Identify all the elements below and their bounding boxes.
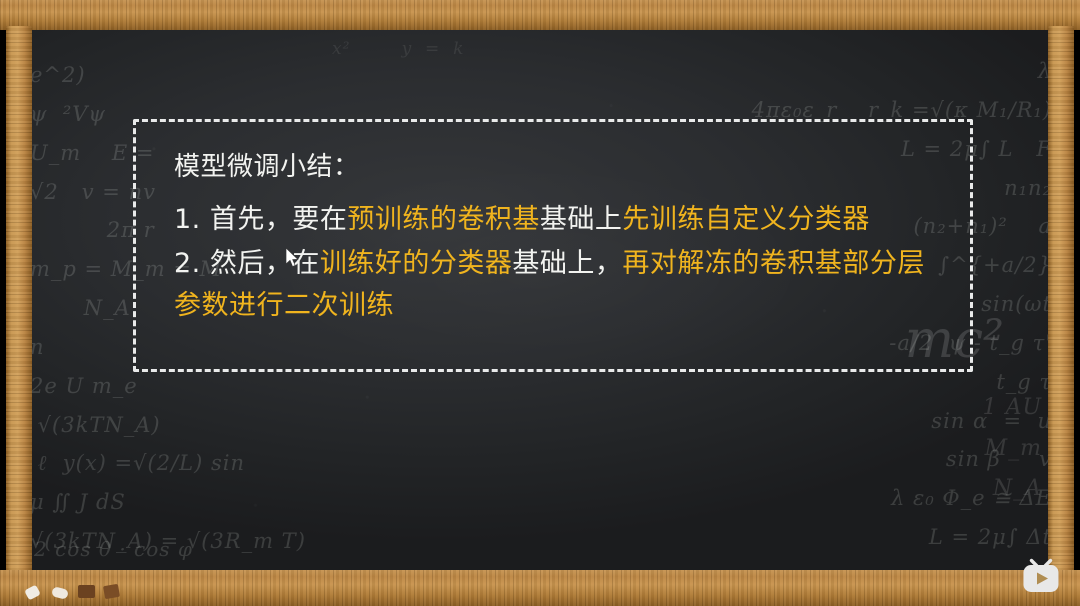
text-segment: 基础上 xyxy=(540,204,623,235)
text-segment: 参数进行二次训练 xyxy=(174,290,394,321)
page-title: 模型微调小结： xyxy=(174,145,964,189)
text-segment: 1. 首先，要在 xyxy=(174,204,347,235)
summary-line-3: 参数进行二次训练 xyxy=(174,284,964,328)
eraser-2 xyxy=(103,584,120,599)
text-segment: 2. 然后，在 xyxy=(174,248,320,279)
chalkboard: e^2) ψ ²Vψ U_m E = √2 v = nv 2π r m_p = … xyxy=(32,30,1048,570)
bezel-right xyxy=(1073,0,1080,606)
frame-ledge-bottom xyxy=(0,570,1080,606)
text-segment: 预训练的卷积基 xyxy=(347,204,540,235)
eraser-1 xyxy=(78,585,95,598)
frame-top xyxy=(0,0,1080,30)
chalk-piece-1 xyxy=(24,585,41,601)
summary-text-block: 模型微调小结： 1. 首先，要在预训练的卷积基基础上先训练自定义分类器 2. 然… xyxy=(174,145,964,328)
text-segment: 基础上， xyxy=(512,248,622,279)
frame-right xyxy=(1048,26,1074,574)
background-chalk-formulas-top: x² y = k xyxy=(332,34,464,65)
text-segment: 再对解冻的卷积基部分层 xyxy=(622,248,925,279)
screenshot-root: e^2) ψ ²Vψ U_m E = √2 v = nv 2π r m_p = … xyxy=(0,0,1080,606)
background-chalk-formulas-bottom-left: 2 cos θ · cos φ xyxy=(34,531,193,568)
text-segment: 训练好的分类器 xyxy=(320,248,513,279)
text-segment: 先训练自定义分类器 xyxy=(622,204,870,235)
frame-left xyxy=(6,26,32,574)
chalk-piece-2 xyxy=(51,586,69,600)
bilibili-tv-logo-icon xyxy=(1020,558,1062,596)
summary-line-2: 2. 然后，在训练好的分类器基础上，再对解冻的卷积基部分层 xyxy=(174,242,964,286)
summary-line-1: 1. 首先，要在预训练的卷积基基础上先训练自定义分类器 xyxy=(174,198,964,242)
background-chalk-formulas-bottom-right: 1 AU M_m N_A xyxy=(969,388,1042,510)
